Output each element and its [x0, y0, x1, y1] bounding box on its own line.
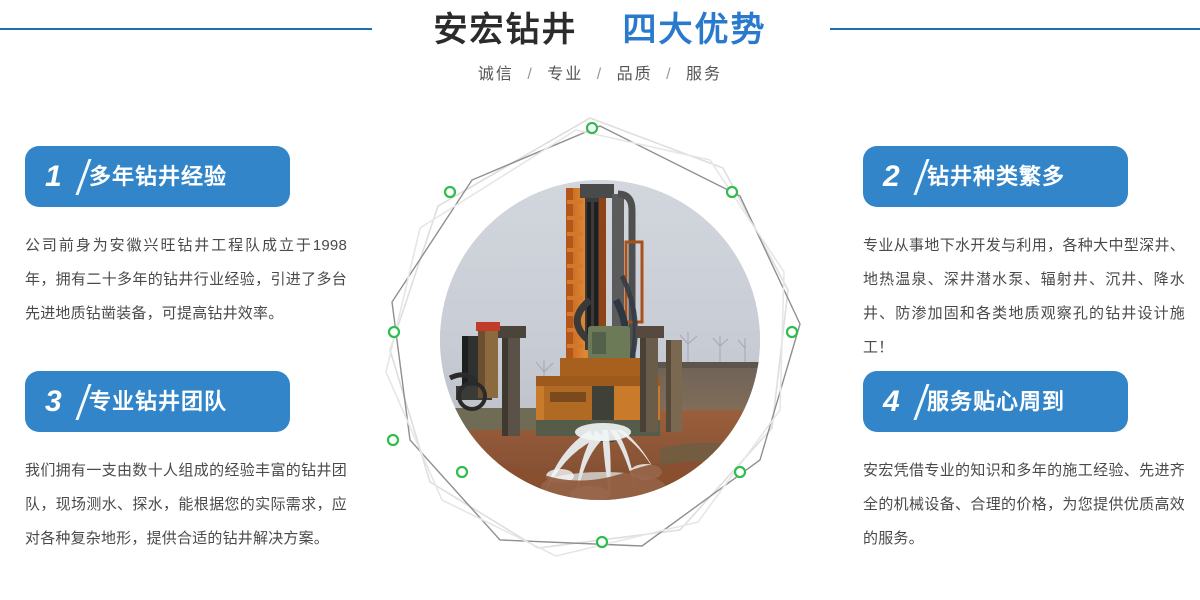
- vertex-marker-1: [587, 123, 597, 133]
- vertex-marker-3: [787, 327, 797, 337]
- advantage-badge-4: 4 服务贴心周到: [863, 371, 1128, 432]
- vertex-marker-5: [597, 537, 607, 547]
- subtitle-item-1: 专业: [547, 66, 583, 83]
- advantage-card-3[interactable]: 3 专业钻井团队 我们拥有一支由数十人组成的经验丰富的钻井团队，现场测水、探水，…: [25, 371, 355, 556]
- subtitle-separator-2: /: [659, 66, 679, 83]
- subtitle: 诚信 / 专业 / 品质 / 服务: [0, 62, 1200, 88]
- advantage-card-1[interactable]: 1 多年钻井经验 公司前身为安徽兴旺钻井工程队成立于1998年，拥有二十多年的钻…: [25, 146, 355, 331]
- subtitle-separator-0: /: [520, 66, 540, 83]
- advantage-title-2: 钻井种类繁多: [927, 146, 1065, 207]
- page-title: 安宏钻井 四大优势: [0, 8, 1200, 52]
- advantage-title-1: 多年钻井经验: [89, 146, 227, 207]
- drilling-rig-photo: [440, 180, 760, 500]
- advantage-card-2[interactable]: 2 钻井种类繁多 专业从事地下水开发与利用，各种大中型深井、地热温泉、深井潜水泵…: [863, 146, 1193, 365]
- advantage-badge-1: 1 多年钻井经验: [25, 146, 290, 207]
- subtitle-separator-1: /: [590, 66, 610, 83]
- badge-number-4: 4: [881, 379, 927, 425]
- advantage-body-1: 公司前身为安徽兴旺钻井工程队成立于1998年，拥有二十多年的钻井行业经验，引进了…: [25, 229, 347, 331]
- advantage-card-4[interactable]: 4 服务贴心周到 安宏凭借专业的知识和多年的施工经验、先进齐全的机械设备、合理的…: [863, 371, 1193, 556]
- advantage-body-4: 安宏凭借专业的知识和多年的施工经验、先进齐全的机械设备、合理的价格，为您提供优质…: [863, 454, 1185, 556]
- advantage-body-2: 专业从事地下水开发与利用，各种大中型深井、地热温泉、深井潜水泵、辐射井、沉井、降…: [863, 229, 1185, 365]
- vertex-marker-7: [389, 327, 399, 337]
- vertex-marker-8: [445, 187, 455, 197]
- advantages-banner: 安宏钻井 四大优势 诚信 / 专业 / 品质 / 服务 1 多年钻井经验 公司前…: [0, 0, 1200, 600]
- advantage-body-3: 我们拥有一支由数十人组成的经验丰富的钻井团队，现场测水、探水，能根据您的实际需求…: [25, 454, 347, 556]
- advantage-title-3: 专业钻井团队: [89, 371, 227, 432]
- vertex-marker-2: [727, 187, 737, 197]
- badge-number-3: 3: [43, 379, 89, 425]
- vertex-marker-9: [388, 435, 398, 445]
- vertex-marker-6: [457, 467, 467, 477]
- subtitle-item-2: 品质: [617, 66, 653, 83]
- advantage-badge-3: 3 专业钻井团队: [25, 371, 290, 432]
- subtitle-item-3: 服务: [686, 66, 722, 83]
- badge-number-2: 2: [881, 154, 927, 200]
- title-highlight: 四大优势: [622, 11, 766, 49]
- badge-number-1: 1: [43, 154, 89, 200]
- vertex-marker-4: [735, 467, 745, 477]
- advantage-title-4: 服务贴心周到: [927, 371, 1065, 432]
- subtitle-item-0: 诚信: [478, 66, 514, 83]
- advantage-badge-2: 2 钻井种类繁多: [863, 146, 1128, 207]
- title-company: 安宏钻井: [434, 11, 578, 49]
- header: 安宏钻井 四大优势 诚信 / 专业 / 品质 / 服务: [0, 0, 1200, 110]
